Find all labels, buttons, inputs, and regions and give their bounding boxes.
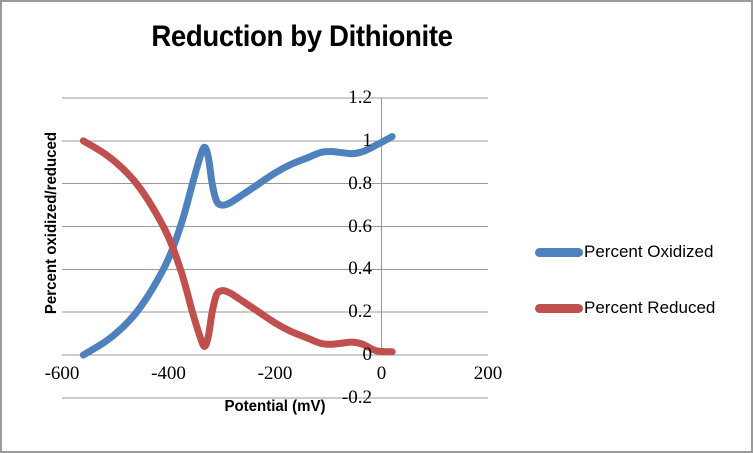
legend-swatch-oxidized [535, 248, 583, 257]
x-axis-tick-labels: -600-400-2000200 [2, 364, 753, 394]
y-tick-label: 0.4 [348, 259, 372, 278]
y-tick-label: 0.6 [348, 217, 372, 236]
y-tick-label: 1 [363, 131, 373, 150]
legend-swatch-reduced [535, 304, 583, 313]
plot-svg [62, 98, 488, 355]
y-tick-label: 0.2 [348, 302, 372, 321]
plot-area [62, 98, 488, 355]
chart-container: Reduction by Dithionite 1.210.80.60.40.2… [0, 0, 753, 453]
y-tick-label: 0.8 [348, 174, 372, 193]
x-tick-label: -200 [235, 364, 315, 383]
legend-label-oxidized: Percent Oxidized [584, 242, 713, 262]
chart-legend: Percent Oxidized Percent Reduced [535, 224, 745, 336]
legend-label-reduced: Percent Reduced [584, 298, 715, 318]
gridlines-group [62, 98, 488, 355]
legend-item-reduced[interactable]: Percent Reduced [535, 280, 745, 336]
y-axis-tick-labels: 1.210.80.60.40.20-0.2 [302, 98, 372, 398]
legend-item-oxidized[interactable]: Percent Oxidized [535, 224, 745, 280]
x-tick-label: 200 [448, 364, 528, 383]
y-tick-label: 1.2 [348, 88, 372, 107]
x-tick-label: -400 [129, 364, 209, 383]
x-axis-title: Potential (mV) [75, 398, 475, 416]
chart-title: Reduction by Dithionite [26, 20, 578, 54]
x-tick-label: -600 [22, 364, 102, 383]
y-axis-title: Percent oxidized/reduced [43, 110, 61, 336]
x-tick-label: 0 [342, 364, 422, 383]
y-tick-label: 0 [363, 345, 373, 364]
axis-lines-group [62, 98, 488, 398]
